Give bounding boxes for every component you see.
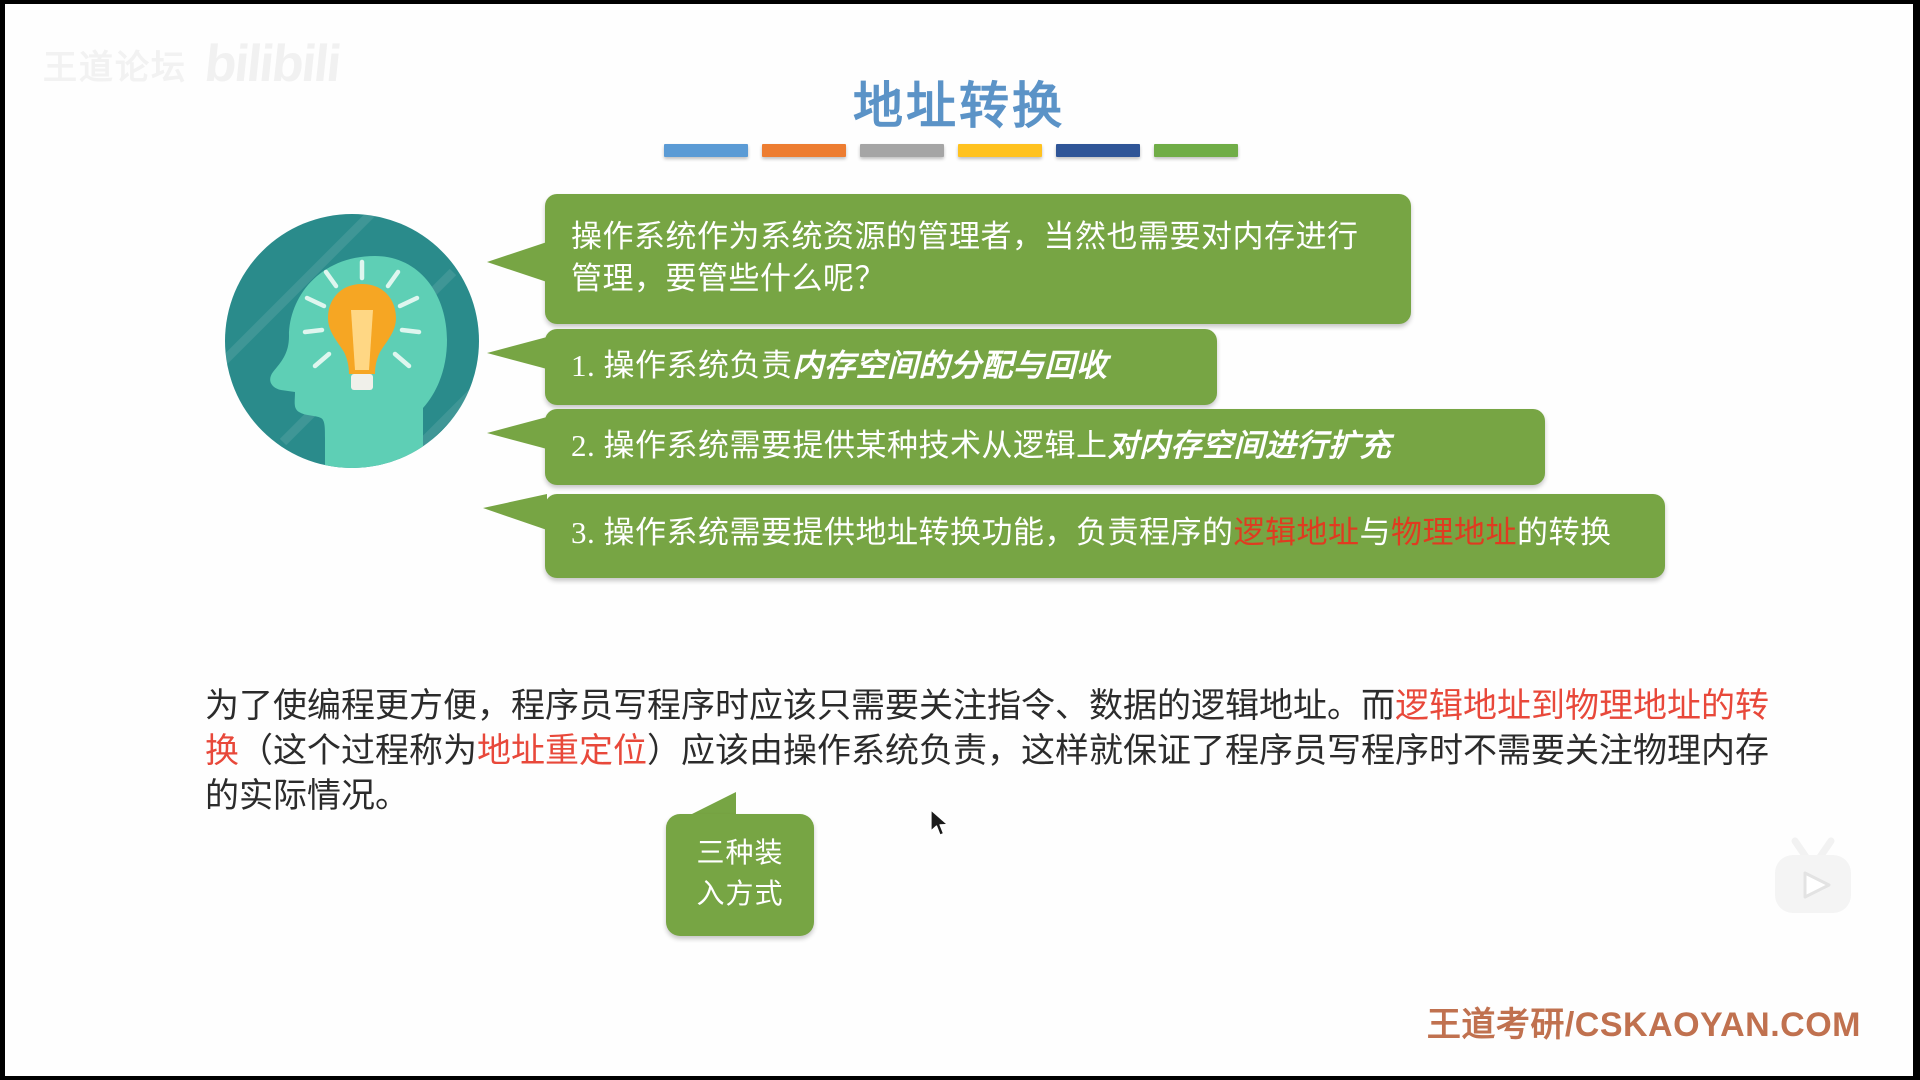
paragraph-segment-2: （这个过程称为 — [239, 733, 477, 770]
bar-orange — [762, 144, 846, 157]
bubble-tail-icon — [487, 337, 547, 369]
title-color-bars — [664, 144, 1238, 157]
body-paragraph: 为了使编程更方便，程序员写程序时应该只需要关注指令、数据的逻辑地址。而逻辑地址到… — [205, 684, 1775, 820]
speech-bubble-point-1: 1. 操作系统负责内存空间的分配与回收 — [545, 329, 1217, 405]
callout-text: 三种装入方式 — [696, 834, 783, 915]
bar-blue — [664, 144, 748, 157]
bar-gold — [958, 144, 1042, 157]
speech-bubble-point-3: 3. 操作系统需要提供地址转换功能，负责程序的逻辑地址与物理地址的转换 — [545, 494, 1665, 578]
speech-bubble-point-3-text: 3. 操作系统需要提供地址转换功能，负责程序的逻辑地址与物理地址的转换 — [571, 512, 1639, 554]
bubble-tail-icon — [483, 494, 547, 530]
bar-gray — [860, 144, 944, 157]
speech-bubble-point-1-text: 1. 操作系统负责内存空间的分配与回收 — [571, 345, 1191, 387]
bilibili-tv-play-logo — [1765, 835, 1861, 921]
bar-green — [1154, 144, 1238, 157]
bubble-tail-icon — [487, 242, 547, 282]
speech-bubble-question-text: 操作系统作为系统资源的管理者，当然也需要对内存进行管理，要管些什么呢？ — [571, 216, 1385, 300]
bar-darkblue — [1056, 144, 1140, 157]
slide-canvas: 王道论坛 bilibili 地址转换 — [5, 4, 1913, 1076]
paragraph-segment-1: 为了使编程更方便，程序员写程序时应该只需要关注指令、数据的逻辑地址。而 — [205, 688, 1395, 725]
bubble-tail-icon — [487, 417, 547, 449]
callout-three-load-modes: 三种装入方式 — [666, 814, 814, 936]
head-with-lightbulb-icon — [223, 212, 481, 470]
page-title: 地址转换 — [5, 66, 1913, 138]
speech-bubble-point-2-text: 2. 操作系统需要提供某种技术从逻辑上对内存空间进行扩充 — [571, 425, 1519, 467]
video-player-stage: 王道论坛 bilibili 地址转换 — [0, 0, 1920, 1080]
speech-bubble-point-2: 2. 操作系统需要提供某种技术从逻辑上对内存空间进行扩充 — [545, 409, 1545, 485]
watermark-bottom-right: 王道考研/CSKAOYAN.COM — [1427, 997, 1861, 1046]
speech-bubble-question: 操作系统作为系统资源的管理者，当然也需要对内存进行管理，要管些什么呢？ — [545, 194, 1411, 324]
paragraph-segment-highlight-2: 地址重定位 — [477, 733, 647, 770]
